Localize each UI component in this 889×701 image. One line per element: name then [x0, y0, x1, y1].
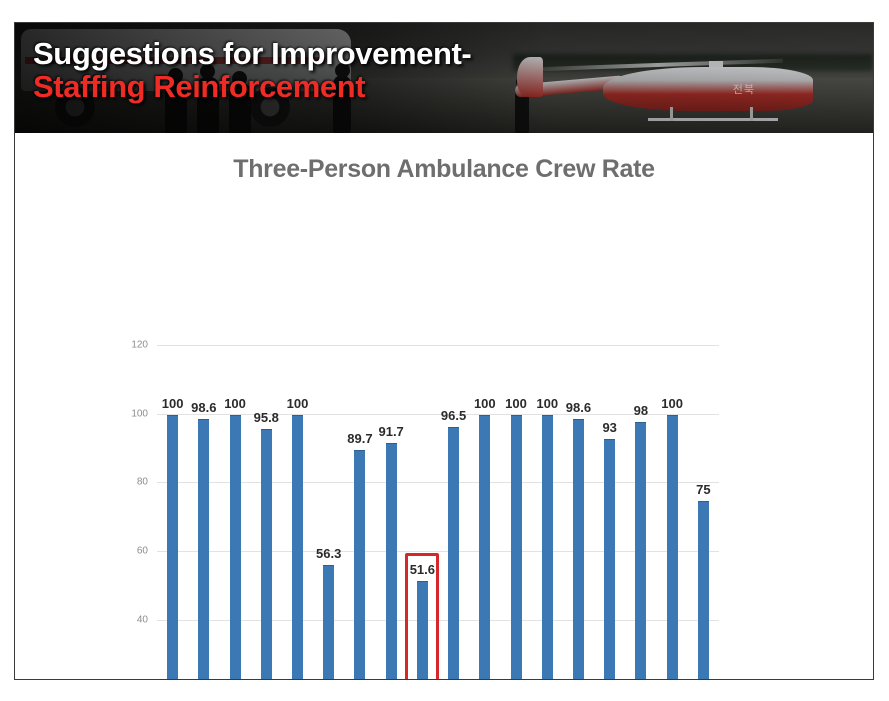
bar-value-label-인천: 95.8	[254, 410, 279, 425]
bar-value-label-대전: 56.3	[316, 546, 341, 561]
bar-대전[interactable]	[323, 565, 334, 680]
bar-충남[interactable]	[511, 415, 522, 680]
bar-울산[interactable]	[354, 450, 365, 680]
bar-value-label-경남: 98	[634, 403, 648, 418]
bar-slot-전북[interactable]: 100	[532, 346, 563, 680]
bar-slot-세종[interactable]: 91.7	[376, 346, 407, 680]
bar-value-label-창원: 75	[696, 482, 710, 497]
bar-창원[interactable]	[698, 501, 709, 681]
bar-value-label-광주: 100	[287, 396, 309, 411]
bar-경남[interactable]	[635, 422, 646, 680]
chart-card: Three-Person Ambulance Crew Rate 0204060…	[15, 155, 873, 680]
chart-title: Three-Person Ambulance Crew Rate	[15, 155, 873, 184]
bar-경기[interactable]	[417, 581, 428, 680]
bar-value-label-충북: 100	[474, 396, 496, 411]
bar-충북[interactable]	[479, 415, 490, 680]
bar-slot-대구[interactable]: 100	[219, 346, 250, 680]
bar-value-label-세종: 91.7	[378, 424, 403, 439]
bar-slot-전남[interactable]: 98.6	[563, 346, 594, 680]
bar-slot-대전[interactable]: 56.3	[313, 346, 344, 680]
bar-value-label-서울: 100	[162, 396, 184, 411]
bars-group: 10098.610095.810056.389.791.751.696.5100…	[157, 346, 719, 680]
bar-value-label-부산: 98.6	[191, 400, 216, 415]
chart-plot-area: 020406080100120 10098.610095.810056.389.…	[157, 346, 719, 680]
slide-container: 전북 Suggestions for Improvement- Staffing…	[14, 22, 874, 680]
bar-slot-제주[interactable]: 100	[657, 346, 688, 680]
bar-value-label-전남: 98.6	[566, 400, 591, 415]
y-axis-tick-40: 40	[137, 614, 148, 625]
bar-대구[interactable]	[230, 415, 241, 680]
page-title-line-1: Suggestions for Improvement-	[33, 37, 471, 70]
y-axis-tick-60: 60	[137, 546, 148, 557]
bar-경북[interactable]	[604, 439, 615, 680]
bar-제주[interactable]	[667, 415, 678, 680]
bar-전북[interactable]	[542, 415, 553, 680]
bar-전남[interactable]	[573, 419, 584, 680]
banner-title-group: Suggestions for Improvement- Staffing Re…	[33, 37, 471, 105]
bar-slot-경북[interactable]: 93	[594, 346, 625, 680]
y-axis-tick-100: 100	[131, 408, 148, 419]
bar-slot-부산[interactable]: 98.6	[188, 346, 219, 680]
bar-slot-충남[interactable]: 100	[500, 346, 531, 680]
bar-slot-경남[interactable]: 98	[625, 346, 656, 680]
bar-서울[interactable]	[167, 415, 178, 680]
bar-slot-광주[interactable]: 100	[282, 346, 313, 680]
bar-세종[interactable]	[386, 443, 397, 680]
bar-slot-강원[interactable]: 96.5	[438, 346, 469, 680]
header-banner: 전북 Suggestions for Improvement- Staffing…	[15, 23, 873, 133]
bar-value-label-충남: 100	[505, 396, 527, 411]
bar-인천[interactable]	[261, 429, 272, 680]
bar-value-label-경기: 51.6	[410, 562, 435, 577]
bar-slot-서울[interactable]: 100	[157, 346, 188, 680]
bar-slot-충북[interactable]: 100	[469, 346, 500, 680]
y-axis-tick-80: 80	[137, 477, 148, 488]
bar-value-label-강원: 96.5	[441, 408, 466, 423]
bar-slot-창원[interactable]: 75	[688, 346, 719, 680]
y-axis-tick-120: 120	[131, 340, 148, 351]
bar-slot-울산[interactable]: 89.7	[344, 346, 375, 680]
bar-slot-경기[interactable]: 51.6	[407, 346, 438, 680]
bar-value-label-대구: 100	[224, 396, 246, 411]
bar-value-label-울산: 89.7	[347, 431, 372, 446]
page-title-line-2: Staffing Reinforcement	[33, 70, 471, 105]
bar-value-label-경북: 93	[602, 420, 616, 435]
bar-광주[interactable]	[292, 415, 303, 680]
bar-value-label-전북: 100	[536, 396, 558, 411]
bar-slot-인천[interactable]: 95.8	[251, 346, 282, 680]
bar-강원[interactable]	[448, 427, 459, 680]
bar-부산[interactable]	[198, 419, 209, 680]
bar-value-label-제주: 100	[661, 396, 683, 411]
